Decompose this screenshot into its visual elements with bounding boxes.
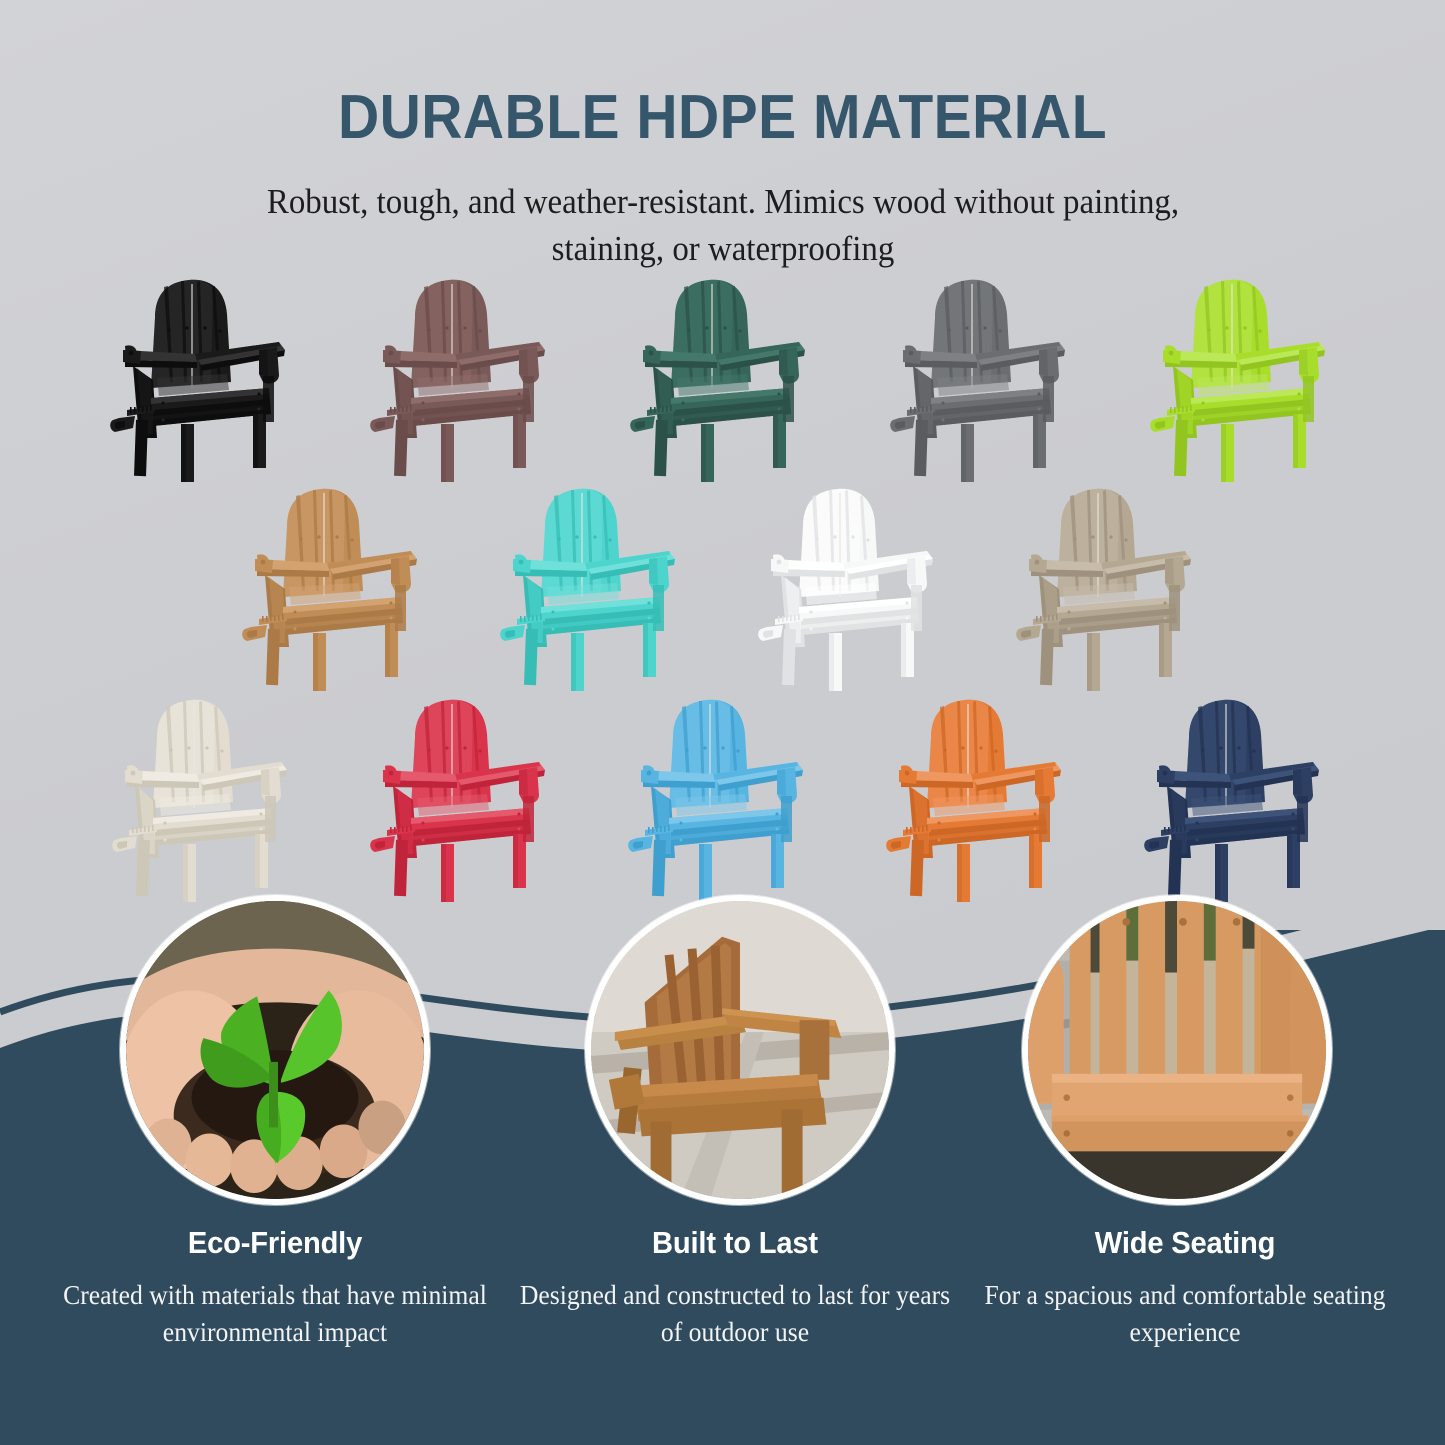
chair-lime-green bbox=[1147, 270, 1347, 485]
chair-graphic bbox=[625, 690, 825, 905]
chair-red bbox=[367, 690, 567, 905]
feature-wide-seating: Wide Seating For a spacious and comforta… bbox=[945, 1225, 1425, 1350]
chair-ivory bbox=[109, 690, 309, 905]
feature-eco-friendly: Eco-Friendly Created with materials that… bbox=[30, 1225, 520, 1350]
page-title: DURABLE HDPE MATERIAL bbox=[58, 82, 1387, 153]
seating-photo bbox=[1022, 895, 1332, 1205]
feature-title: Wide Seating bbox=[959, 1225, 1410, 1261]
feature-description: Created with materials that have minimal… bbox=[42, 1277, 508, 1350]
chair-graphic bbox=[239, 479, 439, 694]
chair-graphic bbox=[627, 270, 827, 485]
chair-graphic bbox=[887, 270, 1087, 485]
chair-teak bbox=[239, 479, 439, 694]
chair-row-1 bbox=[8, 270, 1445, 485]
eco-photo bbox=[120, 895, 430, 1205]
chair-white bbox=[755, 479, 955, 694]
chair-graphic bbox=[367, 270, 567, 485]
chair-turquoise bbox=[497, 479, 697, 694]
chair-graphic bbox=[1013, 479, 1213, 694]
circle-photo-eco bbox=[120, 895, 430, 1205]
feature-description: For a spacious and comfortable seating e… bbox=[957, 1277, 1413, 1350]
feature-photos bbox=[0, 890, 1445, 1220]
chair-orange bbox=[883, 690, 1083, 905]
chair-graphic bbox=[1141, 690, 1341, 905]
chair-gray bbox=[887, 270, 1087, 485]
chair-row-2 bbox=[6, 479, 1445, 694]
chair-graphic bbox=[883, 690, 1083, 905]
chair-graphic bbox=[367, 690, 567, 905]
chair-graphic bbox=[497, 479, 697, 694]
feature-title: Built to Last bbox=[509, 1225, 960, 1261]
feature-title: Eco-Friendly bbox=[45, 1225, 506, 1261]
chair-dark-green bbox=[627, 270, 827, 485]
chair-row-3 bbox=[4, 690, 1445, 905]
chair-brown bbox=[367, 270, 567, 485]
chair-black bbox=[107, 270, 307, 485]
circle-photo-durability bbox=[585, 895, 895, 1205]
chair-graphic bbox=[755, 479, 955, 694]
chair-weathered-wood bbox=[1013, 479, 1213, 694]
chair-navy-blue bbox=[1141, 690, 1341, 905]
chair-graphic bbox=[1147, 270, 1347, 485]
feature-description: Designed and constructed to last for yea… bbox=[507, 1277, 963, 1350]
durability-photo bbox=[585, 895, 895, 1205]
chair-light-blue bbox=[625, 690, 825, 905]
chair-color-grid bbox=[0, 270, 1445, 910]
header: DURABLE HDPE MATERIAL Robust, tough, and… bbox=[0, 0, 1445, 272]
chair-graphic bbox=[107, 270, 307, 485]
page-subtitle: Robust, tough, and weather-resistant. Mi… bbox=[248, 179, 1197, 272]
circle-photo-seating bbox=[1022, 895, 1332, 1205]
feature-built-to-last: Built to Last Designed and constructed t… bbox=[495, 1225, 975, 1350]
chair-graphic bbox=[109, 690, 309, 905]
